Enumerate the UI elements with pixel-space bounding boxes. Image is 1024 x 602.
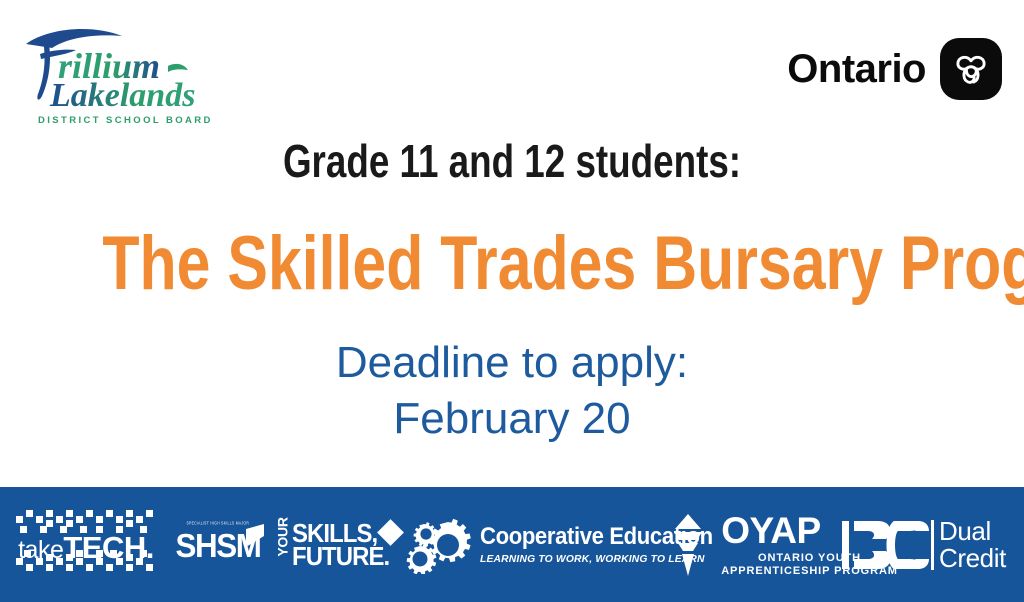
ontario-logo: Ontario: [787, 38, 1002, 100]
oyap-logo: OYAP ONTARIO YOUTH APPRENTICESHIP PROGRA…: [657, 510, 835, 580]
shsm-flag-icon: [244, 523, 266, 547]
taketech-take-text: take: [18, 536, 63, 564]
taketech-tech-text: TECH.: [63, 530, 154, 565]
page-title: The Skilled Trades Bursary Program: [102, 226, 921, 302]
cooperative-education-logo: Cooperative Education LEARNING TO WORK, …: [404, 514, 650, 576]
ysf-your-text: YOUR: [275, 517, 289, 556]
dc-monogram-icon: [842, 519, 930, 571]
deadline-date: February 20: [0, 391, 1024, 447]
taketech-logo: takeTECH.: [10, 506, 162, 584]
trillium-lakelands-dsb-logo: rillium Lakelands DISTRICT SCHOOL BOARD: [18, 22, 218, 127]
gears-icon: [404, 516, 476, 574]
ysf-future-text: FUTURE.: [292, 545, 389, 569]
svg-text:DISTRICT SCHOOL BOARD: DISTRICT SCHOOL BOARD: [38, 115, 213, 126]
ontario-trillium-icon: [940, 38, 1002, 100]
deadline-block: Deadline to apply: February 20: [0, 335, 1024, 448]
dual-credit-logo: Dual Credit: [842, 512, 1014, 578]
kicker-text: Grade 11 and 12 students:: [102, 138, 921, 184]
oyap-diamond-icon: [657, 512, 719, 578]
your-skills-future-logo: YOUR SKILLS, FUTURE.: [274, 514, 398, 576]
headline-block: Grade 11 and 12 students: The Skilled Tr…: [0, 138, 1024, 302]
dual-credit-line1: Dual: [939, 518, 1006, 545]
dual-credit-line2: Credit: [939, 545, 1006, 572]
partner-logo-banner: takeTECH. SPECIALIST HIGH SKILLS MAJOR S…: [0, 487, 1024, 602]
dc-divider: [931, 520, 934, 570]
shsm-logo: SPECIALIST HIGH SKILLS MAJOR SHSM: [169, 515, 267, 575]
poster-canvas: rillium Lakelands DISTRICT SCHOOL BOARD …: [0, 0, 1024, 602]
ontario-wordmark: Ontario: [787, 49, 926, 89]
deadline-label: Deadline to apply:: [0, 335, 1024, 391]
